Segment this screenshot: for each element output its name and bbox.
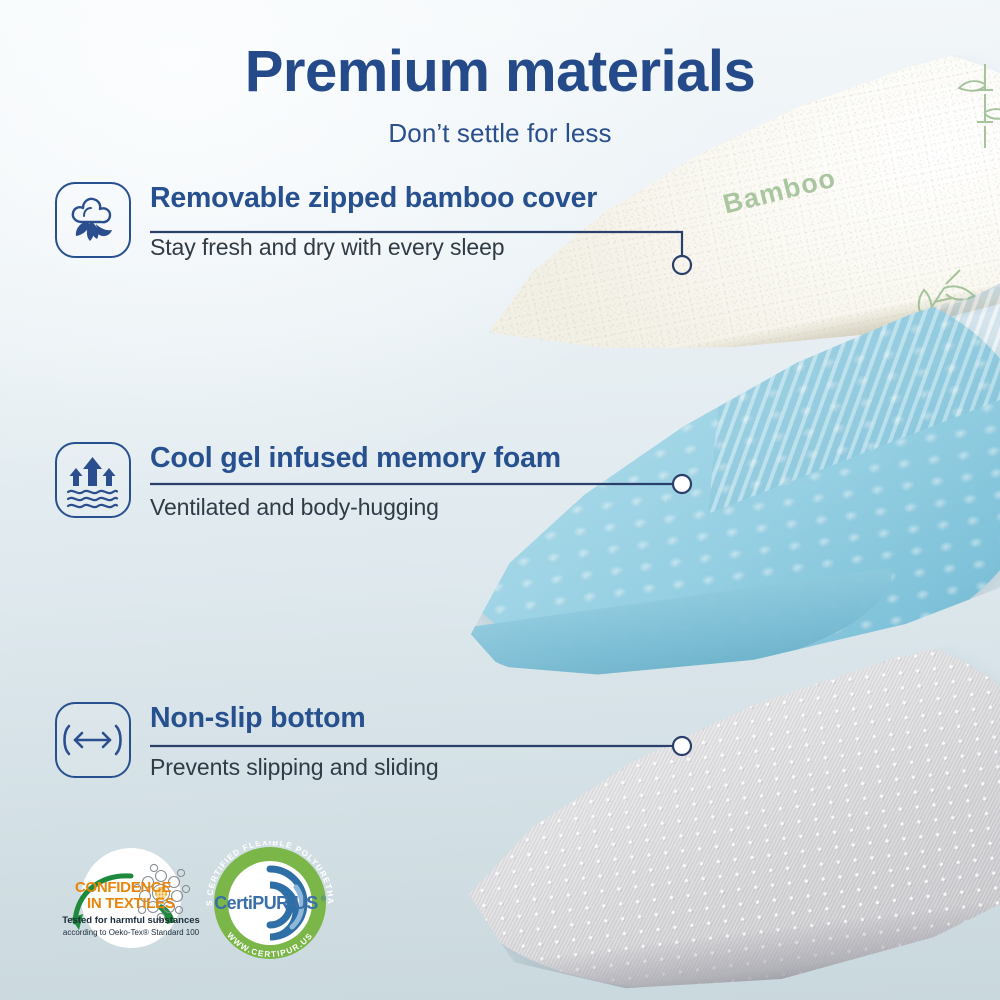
product-infographic: Bamboo Premium materials Don’t settle fo…	[0, 0, 1000, 1000]
feature-heading: Cool gel infused memory foam	[150, 442, 561, 475]
bamboo-cover-label: Bamboo	[720, 163, 839, 221]
connector-dot-3	[673, 737, 691, 755]
feature-subtext: Ventilated and body-hugging	[150, 494, 439, 521]
cover-edge	[498, 263, 1000, 407]
certipur-us-badge: CONTAINS CERTIFIED FLEXIBLE POLYURETHANE…	[196, 841, 348, 959]
gel-memory-foam-layer	[418, 260, 1000, 700]
airflow-waves-icon	[55, 442, 131, 518]
cotton-boll-icon	[55, 182, 131, 258]
foam-rib-texture	[679, 260, 1000, 514]
foam-eggcrate-texture	[418, 260, 1000, 700]
base-edge	[501, 900, 997, 1000]
feature-heading: Removable zipped bamboo cover	[150, 182, 597, 215]
non-slip-base-layer	[432, 620, 1000, 1000]
oeko-line4: according to Oeko-Tex® Standard 100	[63, 928, 200, 937]
oeko-tex-badge: CONFIDENCE IN TEXTILES Tested for harmfu…	[57, 848, 205, 948]
base-weave-texture	[432, 620, 1000, 1000]
bamboo-sprig-icon	[890, 268, 982, 354]
feature-subtext: Prevents slipping and sliding	[150, 754, 439, 781]
oeko-line2: IN TEXTILES	[87, 895, 175, 912]
feature-heading: Non-slip bottom	[150, 702, 365, 735]
oeko-line3: Tested for harmful substances	[62, 915, 200, 926]
certipur-registered-mark: ®	[321, 895, 327, 903]
oeko-line1: CONFIDENCE	[75, 879, 171, 896]
certipur-wordmark: CertiPUR-US	[214, 893, 318, 913]
base-grip-dots	[432, 620, 1000, 1000]
page-title: Premium materials	[0, 42, 1000, 102]
foam-side-edge	[464, 568, 903, 707]
page-subtitle: Don’t settle for less	[0, 118, 1000, 149]
feature-subtext: Stay fresh and dry with every sleep	[150, 234, 504, 261]
connector-dot-1	[673, 256, 691, 274]
horizontal-arrow-grip-icon	[55, 702, 131, 778]
connector-dot-2	[673, 475, 691, 493]
